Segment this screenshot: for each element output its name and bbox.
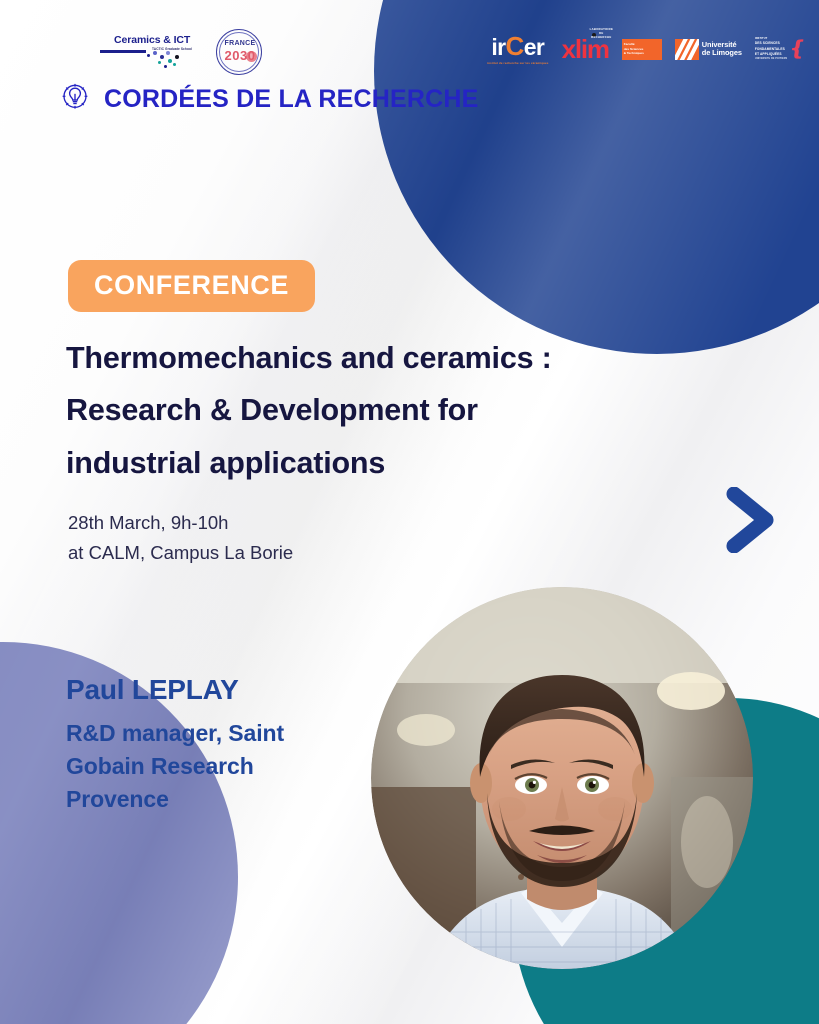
ceramics-ict-subtitle: TACTIC Graduate School: [152, 47, 192, 51]
faculte-line3: & Techniques: [624, 51, 644, 56]
event-location: at CALM, Campus La Borie: [68, 538, 293, 568]
universite-limoges-logo: Université de Limoges: [675, 39, 742, 60]
ircer-wordmark: irCer: [487, 33, 548, 59]
ircer-logo: irCer institut de recherche sur les céra…: [487, 33, 548, 65]
ceramics-ict-logo: Ceramics & ICT TACTIC Graduate School: [100, 34, 190, 68]
ircer-part-ir: ir: [491, 34, 505, 60]
event-title-line-3: industrial applications: [66, 437, 706, 489]
cordees-header: CORDÉES DE LA RECHERCHE: [58, 80, 479, 119]
xlim-logo: LABORATOIRE DE RECHERCHE xlim: [562, 36, 609, 62]
event-title-line-2: Research & Development for: [66, 384, 706, 436]
partner-logos-left: Ceramics & ICT TACTIC Graduate School FR…: [100, 27, 268, 75]
speaker-name: Paul LEPLAY: [66, 674, 366, 706]
conference-badge: CONFERENCE: [68, 260, 315, 312]
speaker-role-line-2: Gobain Research: [66, 750, 366, 783]
france-2030-logo: FRANCE 2030: [212, 27, 268, 75]
isfa-line4: UNIVERSITÉ DE POITIERS: [755, 57, 787, 61]
partner-logos-right: irCer institut de recherche sur les céra…: [487, 31, 806, 67]
xlim-wordmark: xlim: [562, 36, 609, 62]
ircer-part-c: C: [506, 31, 524, 61]
institut-sciences-fondamentales-logo: INSTITUT DES SCIENCES FONDAMENTALES ET A…: [755, 37, 806, 60]
chevron-right-icon[interactable]: [726, 487, 778, 553]
isfa-text: INSTITUT DES SCIENCES FONDAMENTALES ET A…: [755, 37, 787, 60]
conference-poster: Ceramics & ICT TACTIC Graduate School FR…: [0, 0, 819, 1024]
speaker-portrait-photo: [371, 587, 753, 969]
lightbulb-gear-icon: [58, 80, 92, 119]
event-title-line-1: Thermomechanics and ceramics :: [66, 332, 706, 384]
universite-limoges-text: Université de Limoges: [702, 41, 742, 58]
ceramics-ict-title: Ceramics & ICT: [114, 34, 190, 46]
event-meta: 28th March, 9h-10h at CALM, Campus La Bo…: [68, 508, 293, 568]
speaker-role-line-3: Provence: [66, 783, 366, 816]
ceramics-ict-bar: [100, 50, 146, 53]
speaker-role-line-1: R&D manager, Saint: [66, 717, 366, 750]
universite-line2: de Limoges: [702, 49, 742, 57]
cordees-title: CORDÉES DE LA RECHERCHE: [104, 85, 479, 114]
event-date: 28th March, 9h-10h: [68, 508, 293, 538]
speaker-role: R&D manager, Saint Gobain Research Prove…: [66, 717, 366, 815]
speaker-block: Paul LEPLAY R&D manager, Saint Gobain Re…: [66, 674, 366, 815]
france-2030-word: FRANCE: [212, 40, 268, 47]
event-title: Thermomechanics and ceramics : Research …: [66, 332, 706, 489]
ircer-subtitle: institut de recherche sur les céramiques: [487, 61, 548, 65]
faculte-sciences-techniques-logo: Faculté des Sciences & Techniques: [622, 39, 662, 60]
faculte-text: Faculté des Sciences & Techniques: [624, 42, 644, 56]
universite-limoges-mark-icon: [675, 39, 699, 60]
isfa-flame-icon: ❴: [788, 42, 807, 56]
isfa-line2: FONDAMENTALES: [755, 47, 787, 52]
xlim-top-text: LABORATOIRE DE RECHERCHE: [590, 27, 614, 40]
ircer-part-er: er: [524, 34, 545, 60]
france-2030-year: 2030: [212, 48, 268, 63]
